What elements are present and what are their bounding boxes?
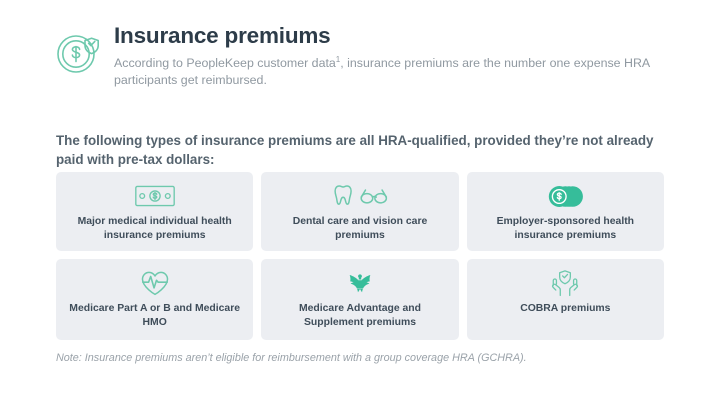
card-label: Major medical individual health insuranc… bbox=[64, 215, 245, 242]
card-cobra: COBRA premiums bbox=[467, 259, 664, 340]
eagle-icon bbox=[344, 268, 376, 298]
page-title: Insurance premiums bbox=[114, 24, 668, 49]
card-medicare-part-a-b: Medicare Part A or B and Medicare HMO bbox=[56, 259, 253, 340]
lead-paragraph: The following types of insurance premium… bbox=[56, 131, 666, 170]
footnote-note: Note: Insurance premiums aren’t eligible… bbox=[56, 352, 668, 364]
insurance-premiums-infographic: Insurance premiums According to PeopleKe… bbox=[0, 0, 720, 415]
tooth-eyeglasses-icon bbox=[331, 181, 389, 211]
page-subtitle-before: According to PeopleKeep customer data bbox=[114, 56, 336, 70]
page-subtitle: According to PeopleKeep customer data1, … bbox=[114, 55, 654, 90]
heart-pulse-icon bbox=[139, 268, 171, 298]
card-label: COBRA premiums bbox=[520, 302, 610, 316]
header: Insurance premiums According to PeopleKe… bbox=[56, 24, 668, 90]
card-major-medical: Major medical individual health insuranc… bbox=[56, 172, 253, 251]
stacked-coins-dollar-icon bbox=[547, 181, 583, 211]
card-dental-vision: Dental care and vision care premiums bbox=[261, 172, 458, 251]
banknote-dollar-icon bbox=[134, 181, 176, 211]
card-label: Medicare Advantage and Supplement premiu… bbox=[269, 302, 450, 329]
header-text-block: Insurance premiums According to PeopleKe… bbox=[114, 24, 668, 90]
card-label: Medicare Part A or B and Medicare HMO bbox=[64, 302, 245, 329]
premium-types-grid: Major medical individual health insuranc… bbox=[56, 172, 664, 340]
coin-dollar-shield-check-icon bbox=[56, 26, 104, 78]
card-medicare-advantage: Medicare Advantage and Supplement premiu… bbox=[261, 259, 458, 340]
card-employer-sponsored: Employer-sponsored health insurance prem… bbox=[467, 172, 664, 251]
card-label: Dental care and vision care premiums bbox=[269, 215, 450, 242]
hands-holding-shield-check-icon bbox=[549, 268, 581, 298]
card-label: Employer-sponsored health insurance prem… bbox=[475, 215, 656, 242]
